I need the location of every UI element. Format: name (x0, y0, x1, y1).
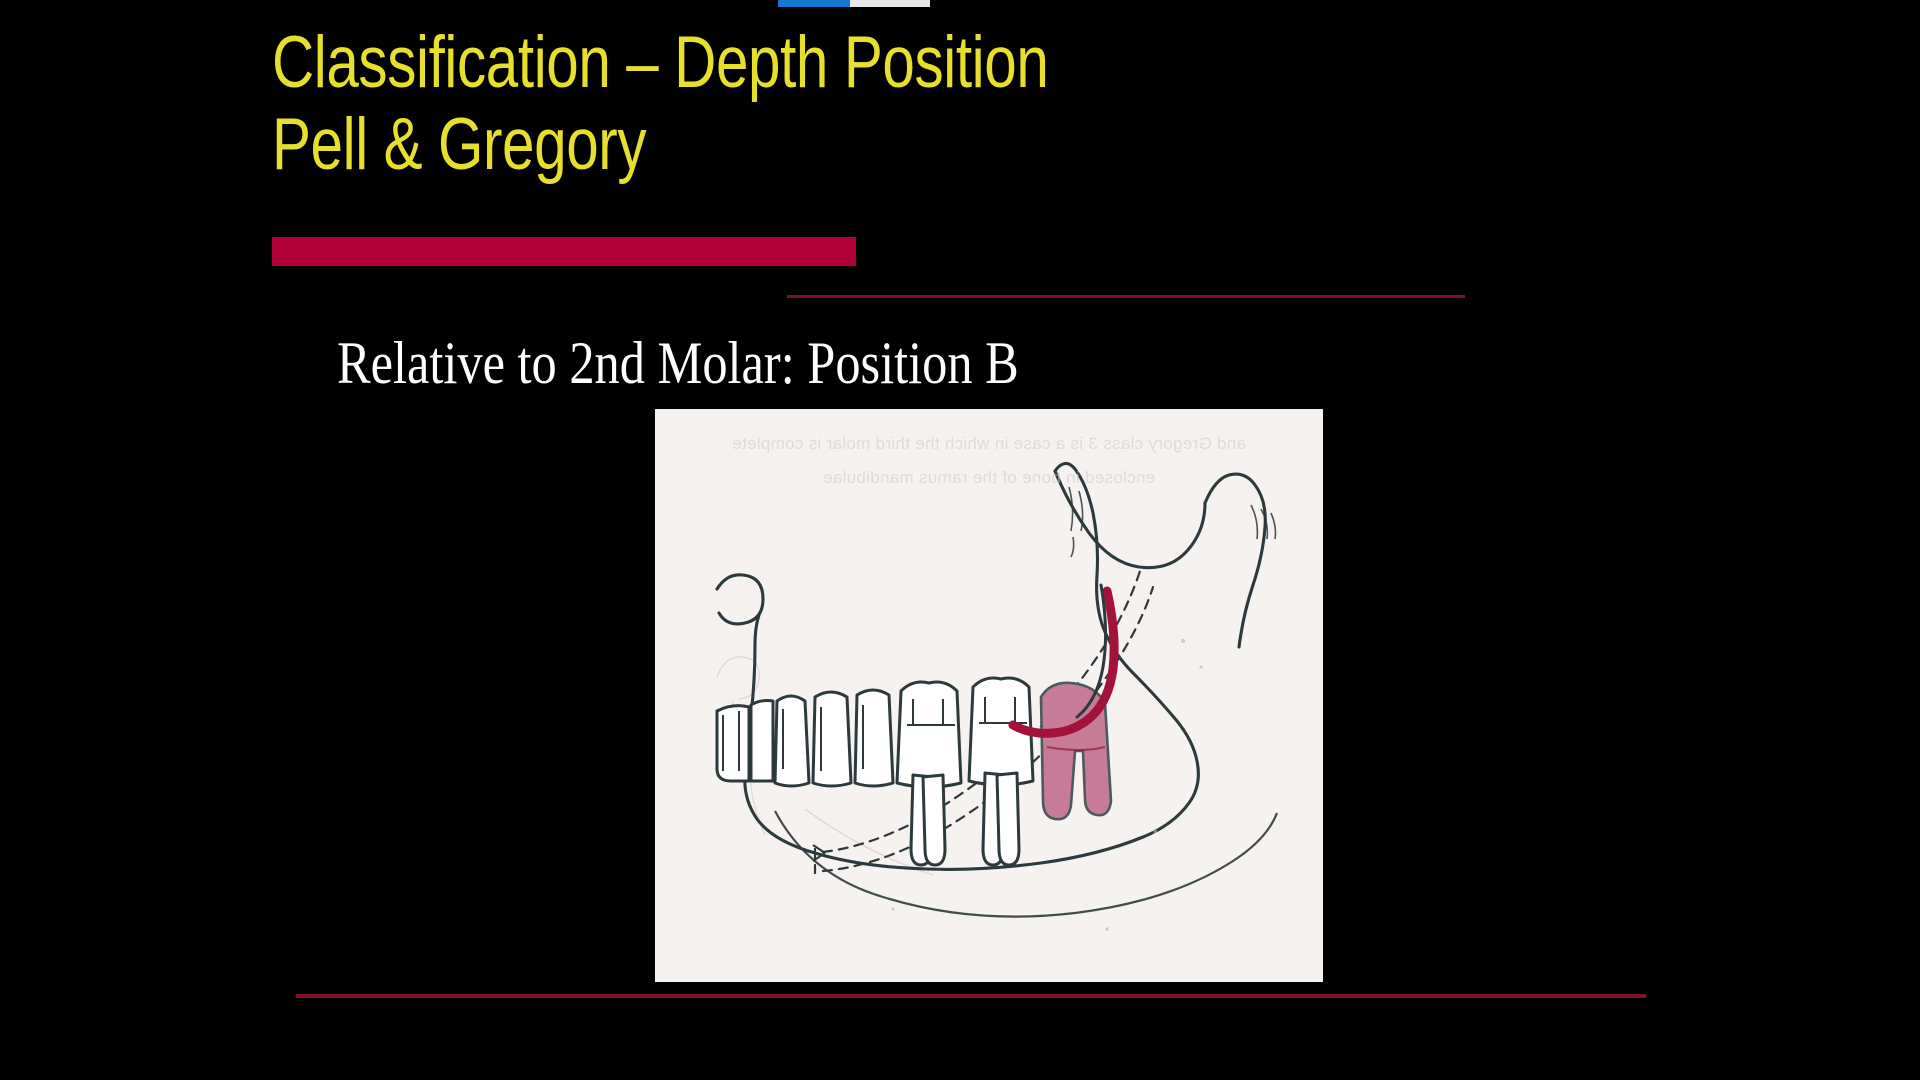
slide-title-line-1: Classification – Depth Position (272, 22, 1120, 104)
tooth-first-molar-crown (897, 682, 961, 787)
slide-canvas: Classification – Depth Position Pell & G… (0, 0, 1920, 1080)
tooth-premolar-2 (855, 690, 893, 786)
tooth-second-molar-root-distal (997, 773, 1019, 865)
body-text-line-1: Relative to 2nd Molar: Position B (337, 331, 1019, 395)
divider-rule-top (787, 295, 1465, 298)
scroll-sliver-light-segment[interactable] (850, 0, 930, 7)
tooth-incisor-1 (717, 706, 749, 781)
slide-title: Classification – Depth Position Pell & G… (272, 22, 1332, 186)
divider-rule-bottom (296, 994, 1646, 998)
title-accent-bar (272, 237, 856, 266)
tooth-incisor-2 (751, 701, 773, 782)
top-scroll-sliver[interactable] (778, 0, 930, 7)
tooth-premolar-1 (813, 692, 851, 786)
mandible-figure: and Gregory class 3 is a case in which t… (655, 409, 1323, 982)
scroll-sliver-blue-segment[interactable] (778, 0, 850, 7)
slide-title-line-2: Pell & Gregory (272, 104, 1120, 186)
tooth-canine (775, 696, 809, 786)
mandible-illustration (655, 409, 1323, 982)
tooth-first-molar-root-distal (923, 775, 945, 865)
